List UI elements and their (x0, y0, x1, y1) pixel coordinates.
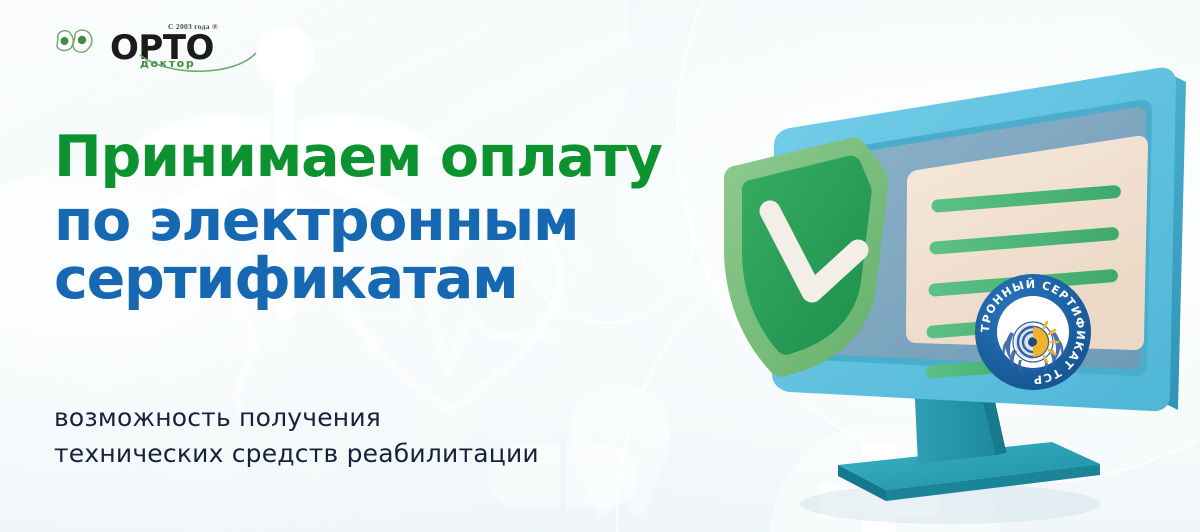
headline-line-2: по электронным (54, 192, 662, 250)
headline-line-1: Принимаем оплату (54, 128, 662, 186)
headline-block: Принимаем оплату по электронным сертифик… (54, 128, 662, 308)
subtitle-line-2: технических средств реабилитации (54, 436, 539, 472)
subtitle-line-1: возможность получения (54, 400, 539, 436)
subtitle-block: возможность получения технических средст… (54, 400, 539, 471)
headline-line-3: сертификатам (54, 250, 662, 308)
tooth-icon (560, 380, 680, 520)
brand-logo[interactable]: С 2003 года ® ОРТО доктор (54, 24, 214, 64)
illustration-monitor-shield-document (700, 60, 1200, 532)
status-badge: ЭЛЕКТРОННЫЙ СЕРТИФИКАТ ТСР (973, 272, 1093, 392)
vertebra-discs-icon (54, 24, 106, 64)
promo-banner: С 2003 года ® ОРТО доктор Принимаем опла… (0, 0, 1200, 532)
logo-swoosh-icon (138, 51, 258, 77)
